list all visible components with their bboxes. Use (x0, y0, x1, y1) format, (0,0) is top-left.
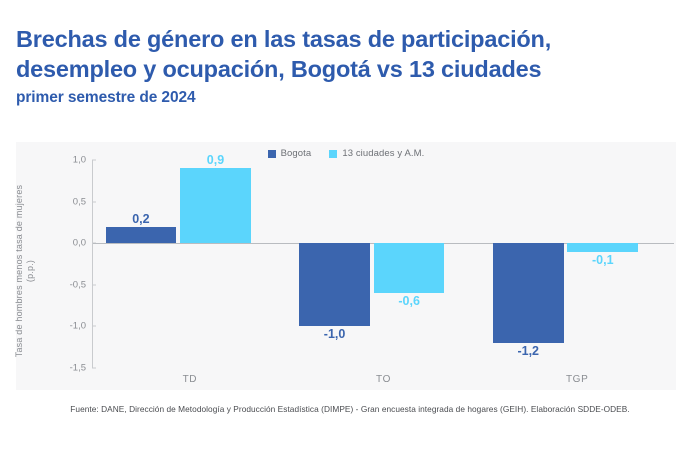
bar-value-label: -1,2 (517, 344, 539, 358)
legend-label: 13 ciudades y A.M. (342, 148, 424, 159)
x-axis-label-tgp: TGP (566, 374, 588, 385)
x-axis-labels: TDTOTGP (93, 374, 674, 390)
legend-label: Bogota (281, 148, 312, 159)
x-axis-label-td: TD (183, 374, 198, 385)
x-axis-label-to: TO (376, 374, 391, 385)
bar-to-trece-ciudades[interactable]: -0,6 (374, 243, 445, 293)
bar-tgp-trece-ciudades[interactable]: -0,1 (567, 243, 638, 251)
y-axis-ticks: 1,00,50,0-0,5-1,0-1,5 (54, 160, 92, 368)
legend-swatch-icon (268, 150, 276, 158)
bar-value-label: -0,1 (592, 253, 614, 267)
y-tick-label: 0,0 (73, 238, 86, 249)
plot-panel: Bogota13 ciudades y A.M. Tasa de hombres… (16, 142, 676, 390)
bar-td-trece-ciudades[interactable]: 0,9 (180, 168, 251, 243)
source-note: Fuente: DANE, Dirección de Metodología y… (0, 404, 700, 414)
y-tick-label: -1,5 (70, 363, 86, 374)
legend-swatch-icon (329, 150, 337, 158)
bar-group: -1,2-0,1 (480, 160, 674, 368)
bar-value-label: 0,9 (207, 153, 224, 167)
bar-td-bogota[interactable]: 0,2 (106, 227, 177, 244)
y-tick-label: 1,0 (73, 155, 86, 166)
y-tick-label: 0,5 (73, 196, 86, 207)
bar-group: -1,0-0,6 (287, 160, 481, 368)
page-title: Brechas de género en las tasas de partic… (16, 24, 684, 84)
plot-area: 0,20,9-1,0-0,6-1,2-0,1 (93, 160, 674, 368)
y-tick-label: -1,0 (70, 321, 86, 332)
y-tick-label: -0,5 (70, 279, 86, 290)
bar-tgp-bogota[interactable]: -1,2 (493, 243, 564, 343)
legend-item-bogota[interactable]: Bogota (268, 148, 312, 159)
chart-figure: Brechas de género en las tasas de partic… (0, 0, 700, 450)
chart-subtitle: primer semestre de 2024 (16, 89, 684, 107)
chart-legend: Bogota13 ciudades y A.M. (16, 148, 676, 159)
bar-value-label: -0,6 (398, 294, 420, 308)
bar-to-bogota[interactable]: -1,0 (299, 243, 370, 326)
bar-value-label: -1,0 (324, 327, 346, 341)
legend-item-trece-ciudades[interactable]: 13 ciudades y A.M. (329, 148, 424, 159)
y-axis-title: Tasa de hombres menos tasa de mujeres (p… (14, 168, 30, 374)
bar-group: 0,20,9 (93, 160, 287, 368)
title-block: Brechas de género en las tasas de partic… (16, 24, 684, 107)
bar-value-label: 0,2 (132, 212, 149, 226)
